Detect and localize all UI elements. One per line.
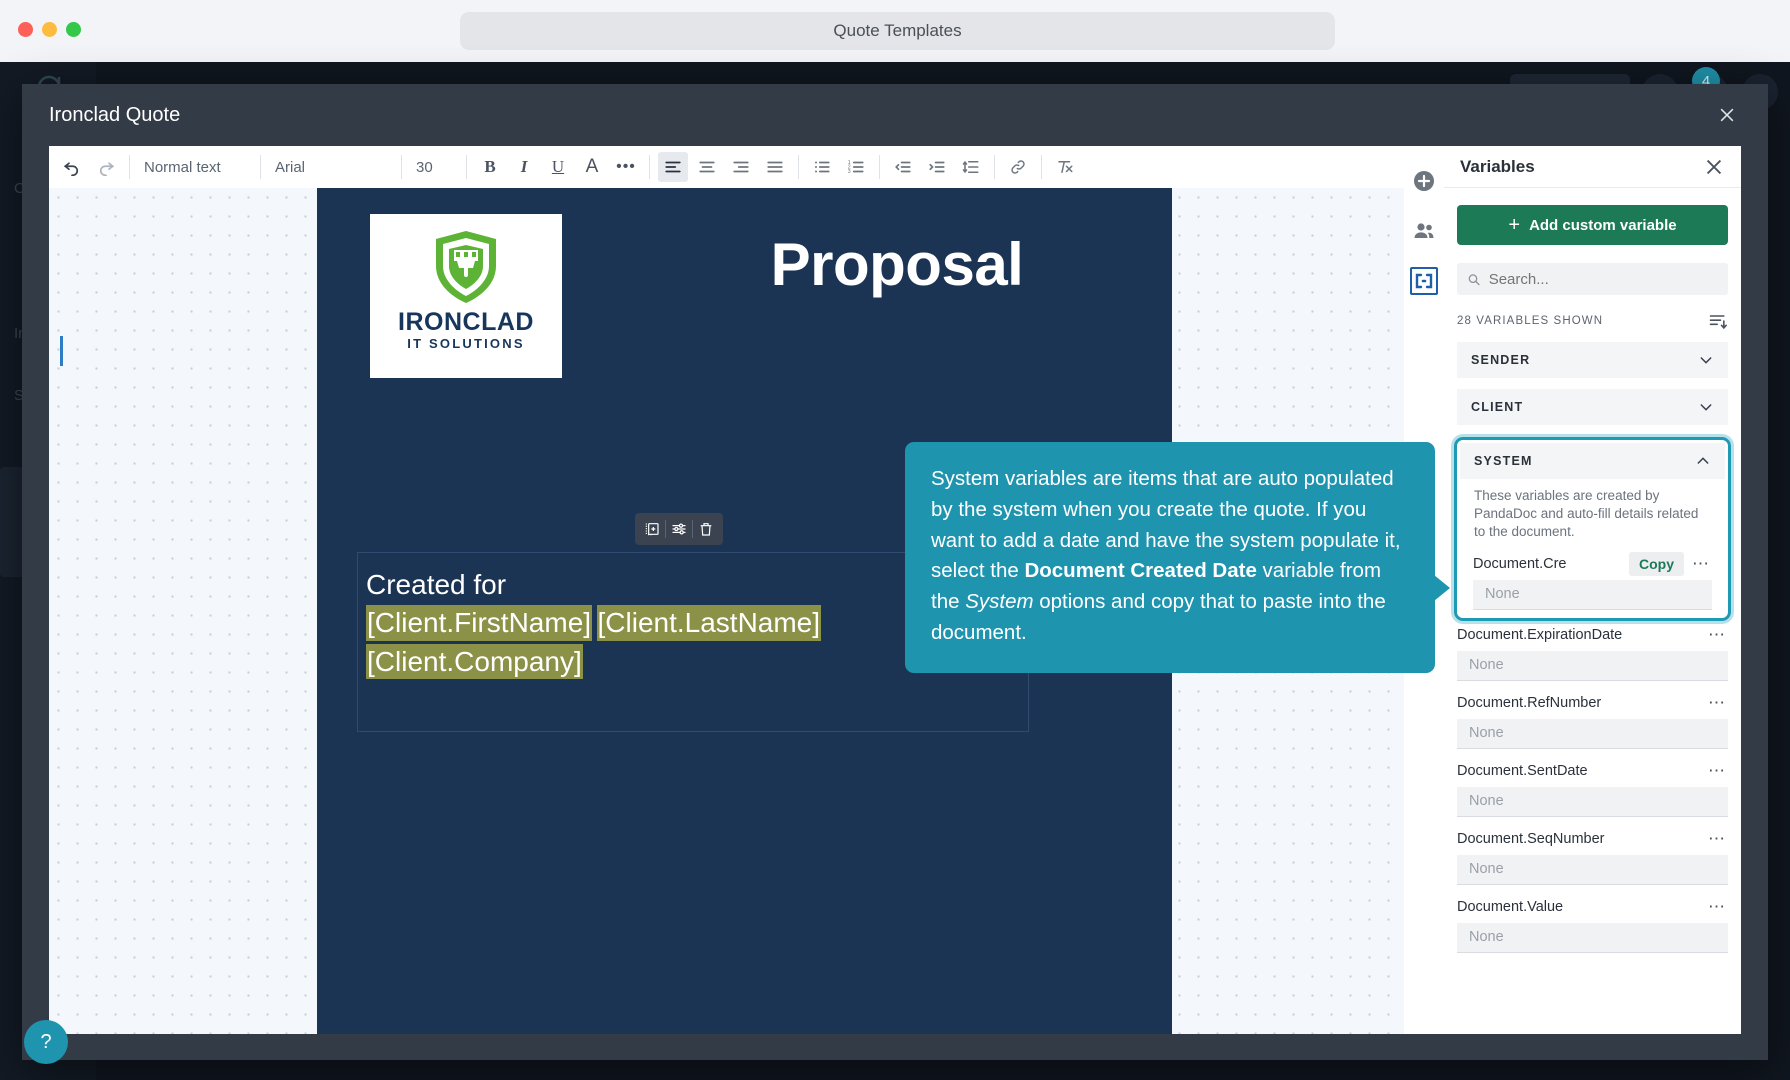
variable-row: Document.ExpirationDate ⋯ None: [1444, 621, 1741, 681]
variable-name: Document.SeqNumber: [1457, 831, 1700, 847]
text-color-button[interactable]: A: [577, 152, 607, 182]
variable-name: Document.Cre: [1473, 556, 1623, 572]
sliders-settings-icon[interactable]: [666, 517, 692, 541]
close-icon[interactable]: [1703, 156, 1725, 178]
variable-chip-client-company[interactable]: [Client.Company]: [366, 644, 583, 680]
rail-active-indicator: [60, 336, 63, 366]
variable-value[interactable]: None: [1457, 923, 1728, 953]
indent-icon[interactable]: [922, 152, 952, 182]
close-icon[interactable]: [1710, 98, 1744, 132]
svg-text:3: 3: [848, 169, 851, 175]
paragraph-style-select[interactable]: Normal text: [136, 152, 254, 182]
variables-search-field[interactable]: [1457, 263, 1728, 295]
callout-text: System variables are items that are auto…: [931, 464, 1409, 649]
help-button[interactable]: ?: [24, 1020, 68, 1064]
bold-button[interactable]: B: [475, 152, 505, 182]
variables-section-client[interactable]: CLIENT: [1457, 389, 1728, 425]
more-options-icon[interactable]: ⋯: [1706, 694, 1728, 711]
shield-castle-icon: [432, 228, 500, 311]
traffic-lights[interactable]: [18, 22, 81, 37]
callout-pointer: [1434, 575, 1450, 601]
align-left-icon[interactable]: [658, 152, 688, 182]
variables-section-system[interactable]: SYSTEM: [1460, 443, 1725, 479]
more-options-icon[interactable]: ⋯: [1706, 898, 1728, 915]
italic-button[interactable]: I: [509, 152, 539, 182]
chevron-down-icon: [1698, 352, 1714, 368]
variable-chip-client-firstname[interactable]: [Client.FirstName]: [366, 605, 592, 641]
variable-value[interactable]: None: [1457, 719, 1728, 749]
variables-list: Document.ExpirationDate ⋯ None Document.…: [1444, 621, 1741, 953]
search-input[interactable]: [1489, 271, 1718, 288]
logo-company-name: IRONCLAD: [370, 308, 562, 337]
more-options-icon[interactable]: ⋯: [1690, 555, 1712, 572]
variable-value[interactable]: None: [1457, 855, 1728, 885]
toolbar-divider: [401, 155, 402, 179]
plus-circle-icon[interactable]: [1410, 167, 1438, 195]
maximize-window-button[interactable]: [66, 22, 81, 37]
close-window-button[interactable]: [18, 22, 33, 37]
block-floating-toolbar: [635, 513, 723, 545]
variable-name: Document.Value: [1457, 899, 1700, 915]
undo-icon[interactable]: [57, 152, 87, 182]
toolbar-divider: [260, 155, 261, 179]
variable-row: Document.SentDate ⋯ None: [1444, 757, 1741, 817]
trash-icon[interactable]: [693, 517, 719, 541]
variables-panel-title: Variables: [1460, 157, 1703, 177]
variable-value[interactable]: None: [1457, 787, 1728, 817]
link-icon[interactable]: [1003, 152, 1033, 182]
variable-name: Document.ExpirationDate: [1457, 627, 1700, 643]
callout-italic-term: System: [965, 590, 1033, 613]
toolbar-divider: [879, 155, 880, 179]
sort-icon[interactable]: [1708, 311, 1728, 331]
bullet-list-icon[interactable]: [807, 152, 837, 182]
outdent-icon[interactable]: [888, 152, 918, 182]
variables-panel-header: Variables: [1444, 146, 1741, 188]
variable-value[interactable]: None: [1457, 651, 1728, 681]
minimize-window-button[interactable]: [42, 22, 57, 37]
font-family-select[interactable]: Arial: [267, 152, 395, 182]
variables-section-system-highlighted[interactable]: SYSTEM These variables are created by Pa…: [1454, 437, 1731, 621]
underline-button[interactable]: U: [543, 152, 573, 182]
add-custom-variable-label: Add custom variable: [1529, 217, 1677, 234]
add-block-icon[interactable]: [639, 517, 665, 541]
variable-name: Document.RefNumber: [1457, 695, 1700, 711]
toolbar-divider: [798, 155, 799, 179]
section-label-sender: SENDER: [1471, 353, 1698, 367]
align-justify-icon[interactable]: [760, 152, 790, 182]
plus-icon: +: [1508, 215, 1520, 235]
modal-title: Ironclad Quote: [49, 104, 180, 127]
clear-formatting-icon[interactable]: [1050, 152, 1080, 182]
variable-chip-client-lastname[interactable]: [Client.LastName]: [597, 605, 822, 641]
variable-row: Document.Cre Copy ⋯ None: [1457, 550, 1728, 618]
modal-header: Ironclad Quote: [22, 84, 1768, 146]
redo-icon[interactable]: [91, 152, 121, 182]
toolbar-divider: [1041, 155, 1042, 179]
variables-section-sender[interactable]: SENDER: [1457, 342, 1728, 378]
callout-bold-term: Document Created Date: [1024, 559, 1256, 582]
more-options-icon[interactable]: ⋯: [1706, 626, 1728, 643]
chevron-down-icon: [1698, 399, 1714, 415]
variable-row: Document.RefNumber ⋯ None: [1444, 689, 1741, 749]
variable-row: Document.Value ⋯ None: [1444, 893, 1741, 953]
search-icon: [1467, 272, 1481, 287]
variable-value[interactable]: None: [1473, 580, 1712, 610]
address-bar[interactable]: Quote Templates: [460, 12, 1335, 50]
recipients-people-icon[interactable]: [1410, 217, 1438, 245]
variable-name: Document.SentDate: [1457, 763, 1700, 779]
logo-company-subtitle: IT SOLUTIONS: [370, 336, 562, 351]
toolbar-divider: [649, 155, 650, 179]
variables-panel: Variables + Add custom variable 28 VARIA…: [1444, 146, 1741, 1034]
variables-count-row: 28 VARIABLES SHOWN: [1457, 311, 1728, 331]
align-right-icon[interactable]: [726, 152, 756, 182]
more-options-icon[interactable]: ⋯: [1706, 830, 1728, 847]
align-center-icon[interactable]: [692, 152, 722, 182]
numbered-list-icon[interactable]: 123: [841, 152, 871, 182]
section-label-client: CLIENT: [1471, 400, 1698, 414]
variables-brackets-icon[interactable]: [1410, 267, 1438, 295]
company-logo: IRONCLAD IT SOLUTIONS: [370, 214, 562, 378]
document-heading[interactable]: Proposal: [667, 230, 1127, 299]
more-options-icon[interactable]: ⋯: [1706, 762, 1728, 779]
system-section-description: These variables are created by PandaDoc …: [1457, 479, 1728, 550]
window-title: Quote Templates: [833, 21, 961, 41]
toolbar-divider: [994, 155, 995, 179]
more-formatting-button[interactable]: •••: [611, 152, 641, 182]
variables-count-label: 28 VARIABLES SHOWN: [1457, 315, 1708, 327]
editor-toolbar: Normal text Arial 30 B I U A ••• 123: [49, 146, 1404, 188]
add-custom-variable-button[interactable]: + Add custom variable: [1457, 205, 1728, 245]
window-titlebar: Quote Templates: [0, 0, 1790, 62]
chevron-up-icon: [1695, 453, 1711, 469]
font-size-select[interactable]: 30: [408, 152, 460, 182]
help-callout-tooltip: System variables are items that are auto…: [905, 442, 1435, 673]
toolbar-divider: [129, 155, 130, 179]
line-spacing-icon[interactable]: [956, 152, 986, 182]
quote-editor-modal: Ironclad Quote Normal text Arial 30 B I …: [22, 84, 1768, 1060]
toolbar-divider: [466, 155, 467, 179]
copy-button[interactable]: Copy: [1629, 552, 1684, 576]
section-label-system: SYSTEM: [1474, 454, 1695, 468]
variable-row: Document.SeqNumber ⋯ None: [1444, 825, 1741, 885]
